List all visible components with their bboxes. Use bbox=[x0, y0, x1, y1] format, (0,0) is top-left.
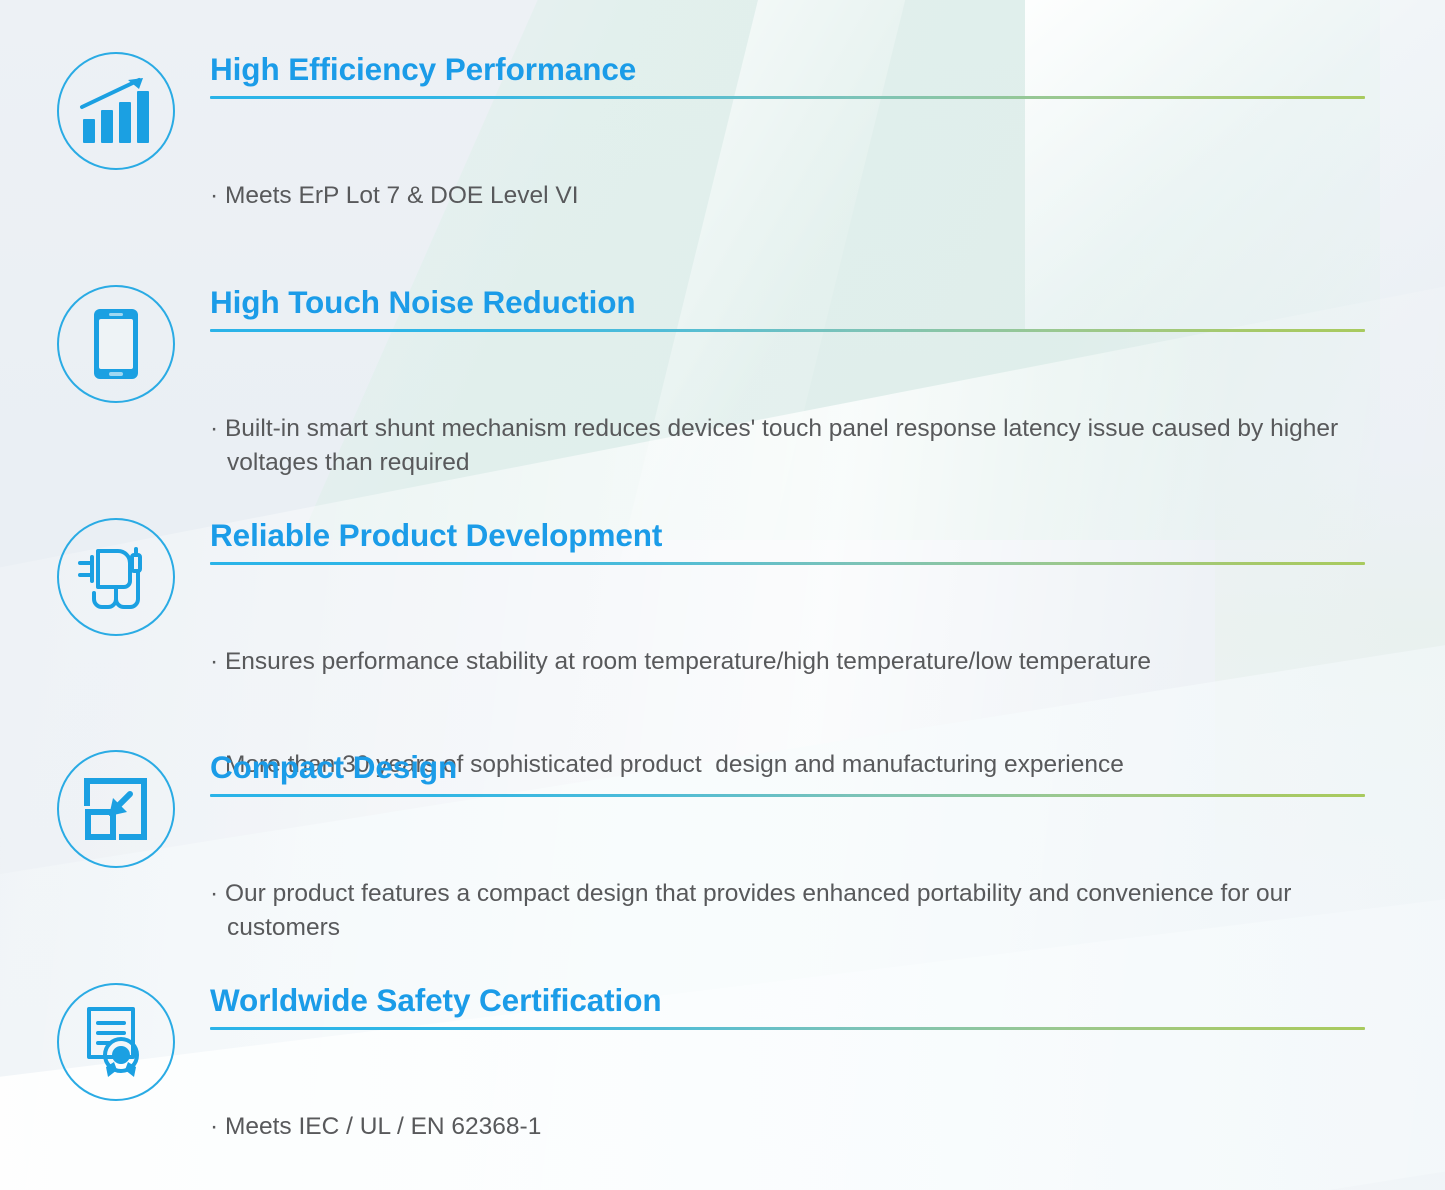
feature-divider bbox=[210, 794, 1365, 797]
feature-bullet: · Meets ErP Lot 7 & DOE Level VI bbox=[210, 179, 1370, 213]
feature-divider bbox=[210, 329, 1365, 332]
feature-icon-wrapper bbox=[57, 750, 177, 870]
certificate-seal-icon bbox=[57, 983, 175, 1101]
feature-icon-wrapper bbox=[57, 52, 177, 172]
feature-icon-wrapper bbox=[57, 518, 177, 638]
feature-text-block: Compact Design · Our product features a … bbox=[210, 750, 1370, 1012]
feature-icon-wrapper bbox=[57, 285, 177, 405]
power-adapter-icon bbox=[57, 518, 175, 636]
feature-title: High Touch Noise Reduction bbox=[210, 285, 1370, 320]
feature-bullet: · Our product features a compact design … bbox=[210, 877, 1370, 945]
feature-title: Reliable Product Development bbox=[210, 518, 1370, 553]
feature-divider bbox=[210, 562, 1365, 565]
feature-divider bbox=[210, 96, 1365, 99]
feature-text-block: High Touch Noise Reduction · Built-in sm… bbox=[210, 285, 1370, 547]
feature-title: Worldwide Safety Certification bbox=[210, 983, 1370, 1018]
feature-text-block: Worldwide Safety Certification · Meets I… bbox=[210, 983, 1370, 1190]
feature-divider bbox=[210, 1027, 1365, 1030]
feature-text-block: High Efficiency Performance · Meets ErP … bbox=[210, 52, 1370, 280]
feature-highlights-page: High Efficiency Performance · Meets ErP … bbox=[0, 0, 1445, 1190]
feature-bullet: · Ensures performance stability at room … bbox=[210, 645, 1370, 679]
feature-bullet: · Meets IEC / UL / EN 62368-1 bbox=[210, 1110, 1370, 1144]
bar-chart-growth-icon bbox=[57, 52, 175, 170]
feature-description: · Meets ErP Lot 7 & DOE Level VI bbox=[210, 111, 1370, 280]
compact-resize-icon bbox=[57, 750, 175, 868]
feature-bullet: · Built-in smart shunt mechanism reduces… bbox=[210, 412, 1370, 480]
feature-description: · Meets IEC / UL / EN 62368-1 bbox=[210, 1042, 1370, 1190]
feature-title: Compact Design bbox=[210, 750, 1370, 785]
smartphone-icon bbox=[57, 285, 175, 403]
feature-title: High Efficiency Performance bbox=[210, 52, 1370, 87]
feature-icon-wrapper bbox=[57, 983, 177, 1103]
